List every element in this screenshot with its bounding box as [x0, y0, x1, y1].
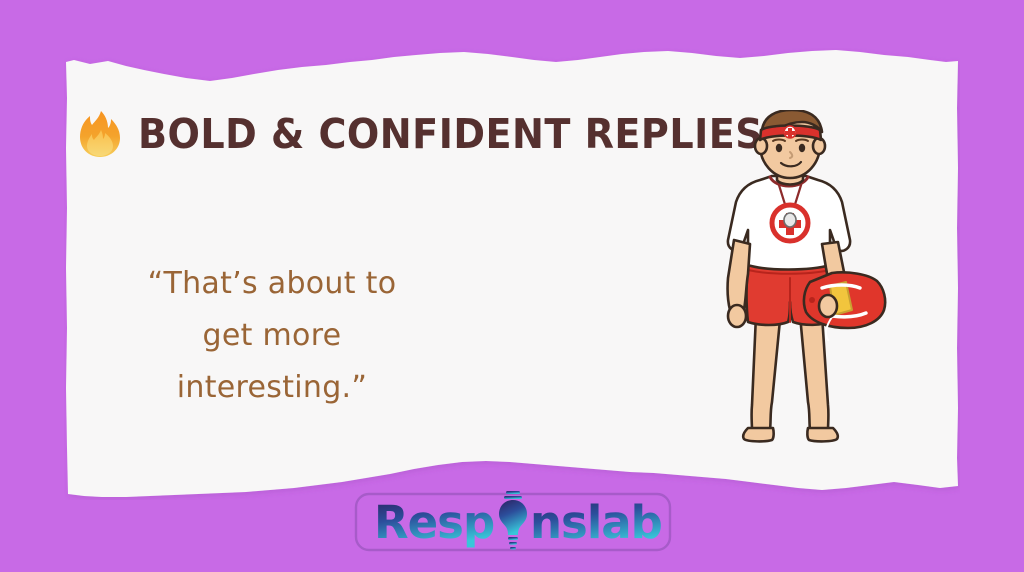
logo-text-right: nslab — [530, 496, 662, 549]
headline-text: BOLD & CONFIDENT REPLIES — [138, 110, 763, 158]
quote-line-2: get more — [82, 310, 462, 362]
quote-text: “That’s about to get more interesting.” — [82, 258, 462, 414]
logo-text-left: Resp — [374, 496, 494, 549]
lifeguard-illustration — [682, 110, 892, 450]
responslab-logo[interactable]: Resp nslab — [352, 488, 674, 556]
quote-line-3: interesting.” — [82, 362, 462, 414]
poster-canvas: BOLD & CONFIDENT REPLIES “That’s about t… — [0, 0, 1024, 572]
lightbulb-icon — [499, 491, 527, 549]
responslab-logo-svg[interactable]: Resp nslab — [352, 488, 674, 556]
quote-line-1: “That’s about to — [82, 258, 462, 310]
lifeguard-figure — [682, 110, 892, 450]
fire-icon — [78, 110, 122, 158]
